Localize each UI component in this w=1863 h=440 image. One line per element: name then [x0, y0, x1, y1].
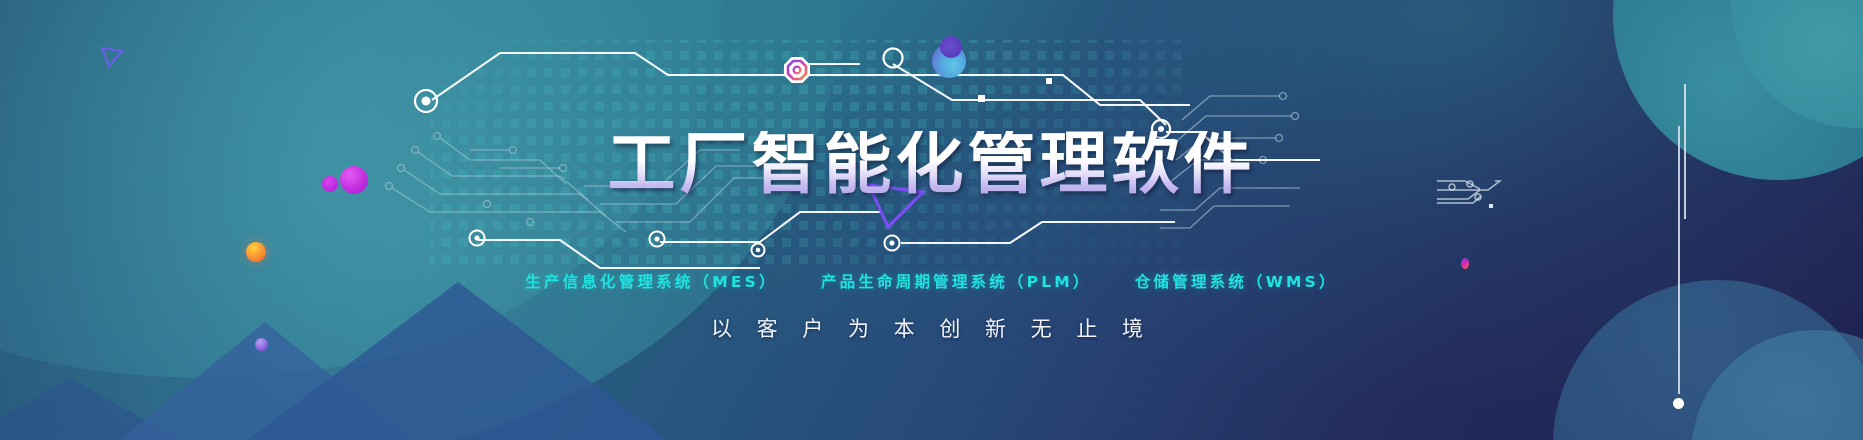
- banner-tagline: 以 客 户 为 本 创 新 无 止 境: [0, 313, 1863, 343]
- banner-subtitle: 生产信息化管理系统（MES） 产品生命周期管理系统（PLM） 仓储管理系统（WM…: [0, 270, 1863, 292]
- hero-banner: 工厂智能化管理软件 生产信息化管理系统（MES） 产品生命周期管理系统（PLM）…: [0, 0, 1863, 440]
- subtitle-item-plm: 产品生命周期管理系统（PLM）: [821, 273, 1092, 291]
- orange-orb: [246, 242, 266, 262]
- subtitle-item-wms: 仓储管理系统（WMS）: [1135, 273, 1338, 291]
- purple-triangle-left-icon: [100, 46, 124, 68]
- violet-sphere-cap: [940, 36, 962, 58]
- circuit-board-graphic: [0, 0, 1863, 440]
- vertical-line-end-dot: [1673, 398, 1684, 409]
- magenta-orb: [1461, 258, 1469, 269]
- banner-title: 工厂智能化管理软件: [0, 131, 1863, 199]
- octagon-node-icon: [784, 57, 810, 83]
- subtitle-item-mes: 生产信息化管理系统（MES）: [525, 273, 777, 291]
